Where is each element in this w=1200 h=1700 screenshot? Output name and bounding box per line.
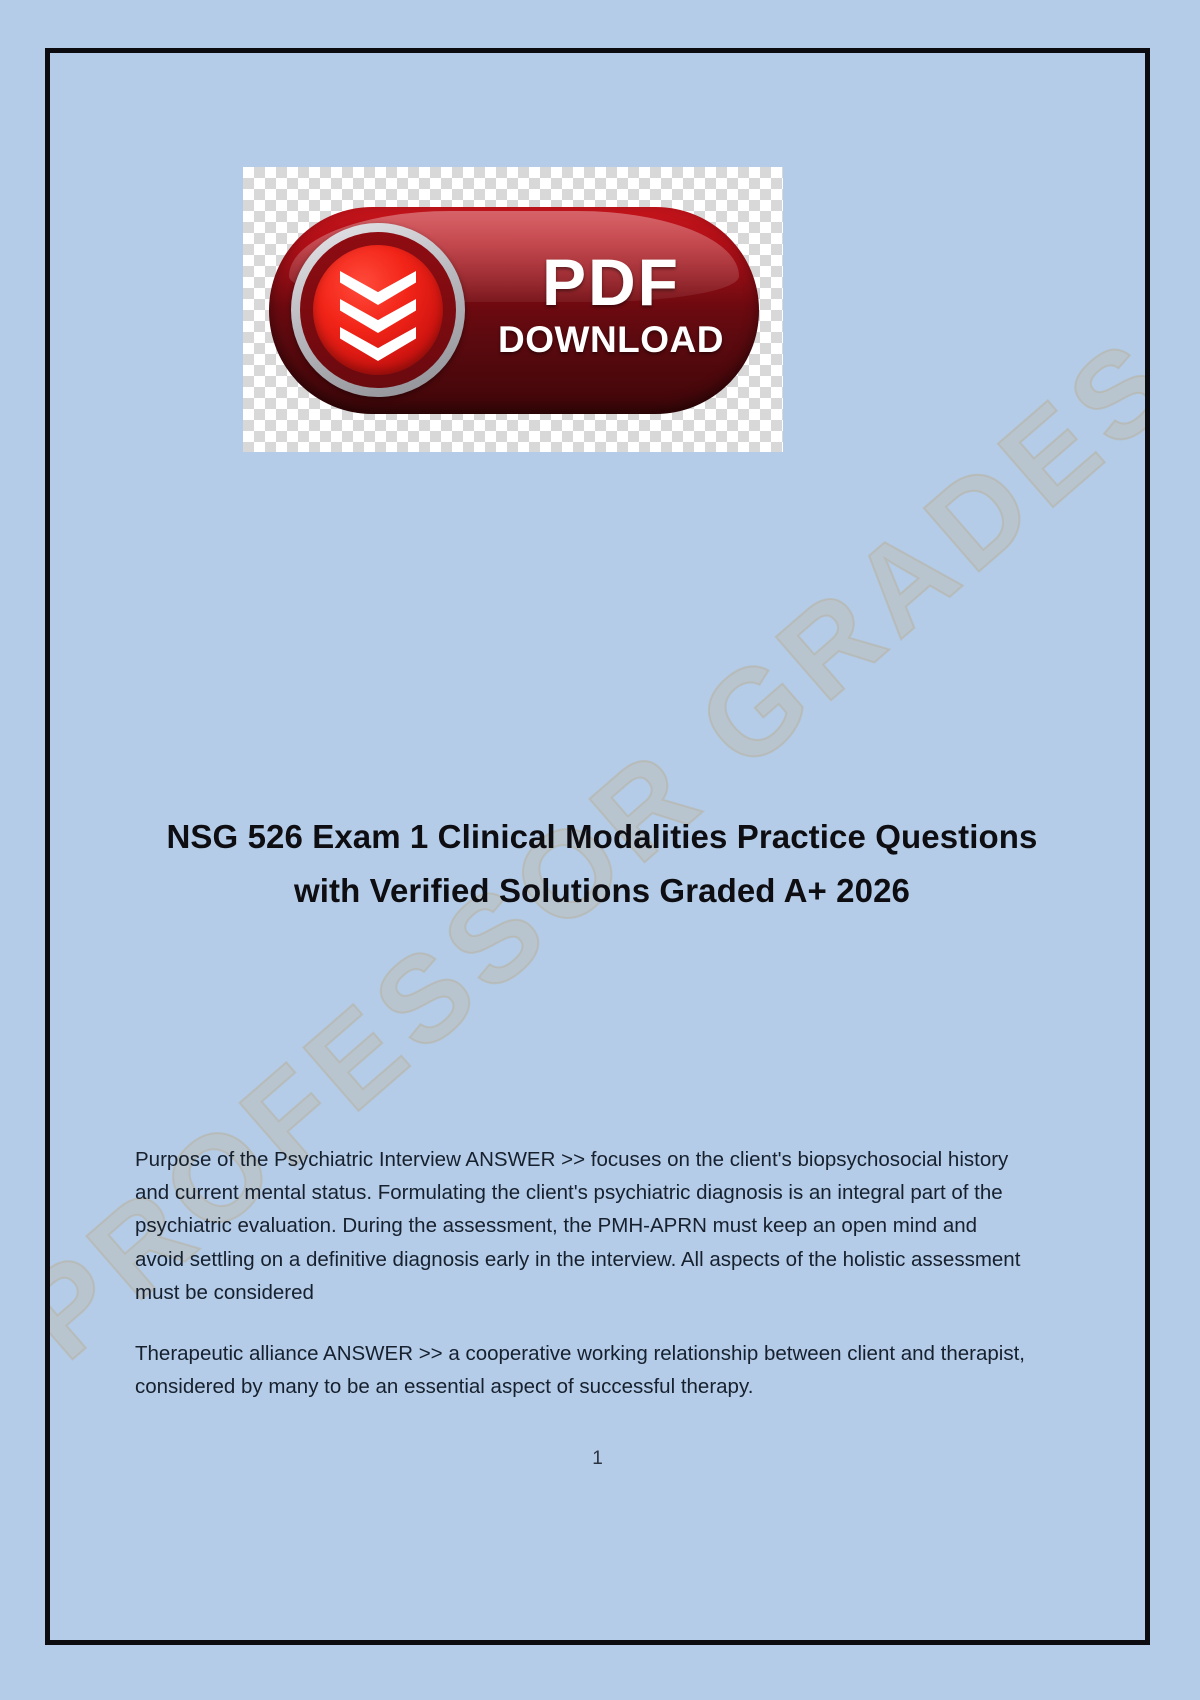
document-page-frame: PROFESSOR GRADES PDF DOWNLOAD <box>45 48 1150 1645</box>
page-number: 1 <box>50 1448 1145 1470</box>
pdf-label-secondary: DOWNLOAD <box>483 321 739 358</box>
pdf-download-banner[interactable]: PDF DOWNLOAD <box>243 167 783 452</box>
body-paragraph: Purpose of the Psychiatric Interview ANS… <box>135 1143 1025 1309</box>
page-inner: PROFESSOR GRADES PDF DOWNLOAD <box>50 53 1145 1640</box>
download-icon-core <box>313 245 443 375</box>
document-body: Purpose of the Psychiatric Interview ANS… <box>135 1143 1025 1431</box>
pdf-download-pill[interactable]: PDF DOWNLOAD <box>269 207 759 414</box>
body-paragraph: Therapeutic alliance ANSWER >> a coopera… <box>135 1337 1025 1403</box>
pdf-download-label: PDF DOWNLOAD <box>483 249 739 358</box>
download-icon <box>291 223 465 397</box>
chevron-down-icon <box>340 271 416 305</box>
pdf-label-primary: PDF <box>483 249 739 315</box>
download-icon-ring <box>300 232 456 388</box>
document-title: NSG 526 Exam 1 Clinical Modalities Pract… <box>132 810 1072 917</box>
